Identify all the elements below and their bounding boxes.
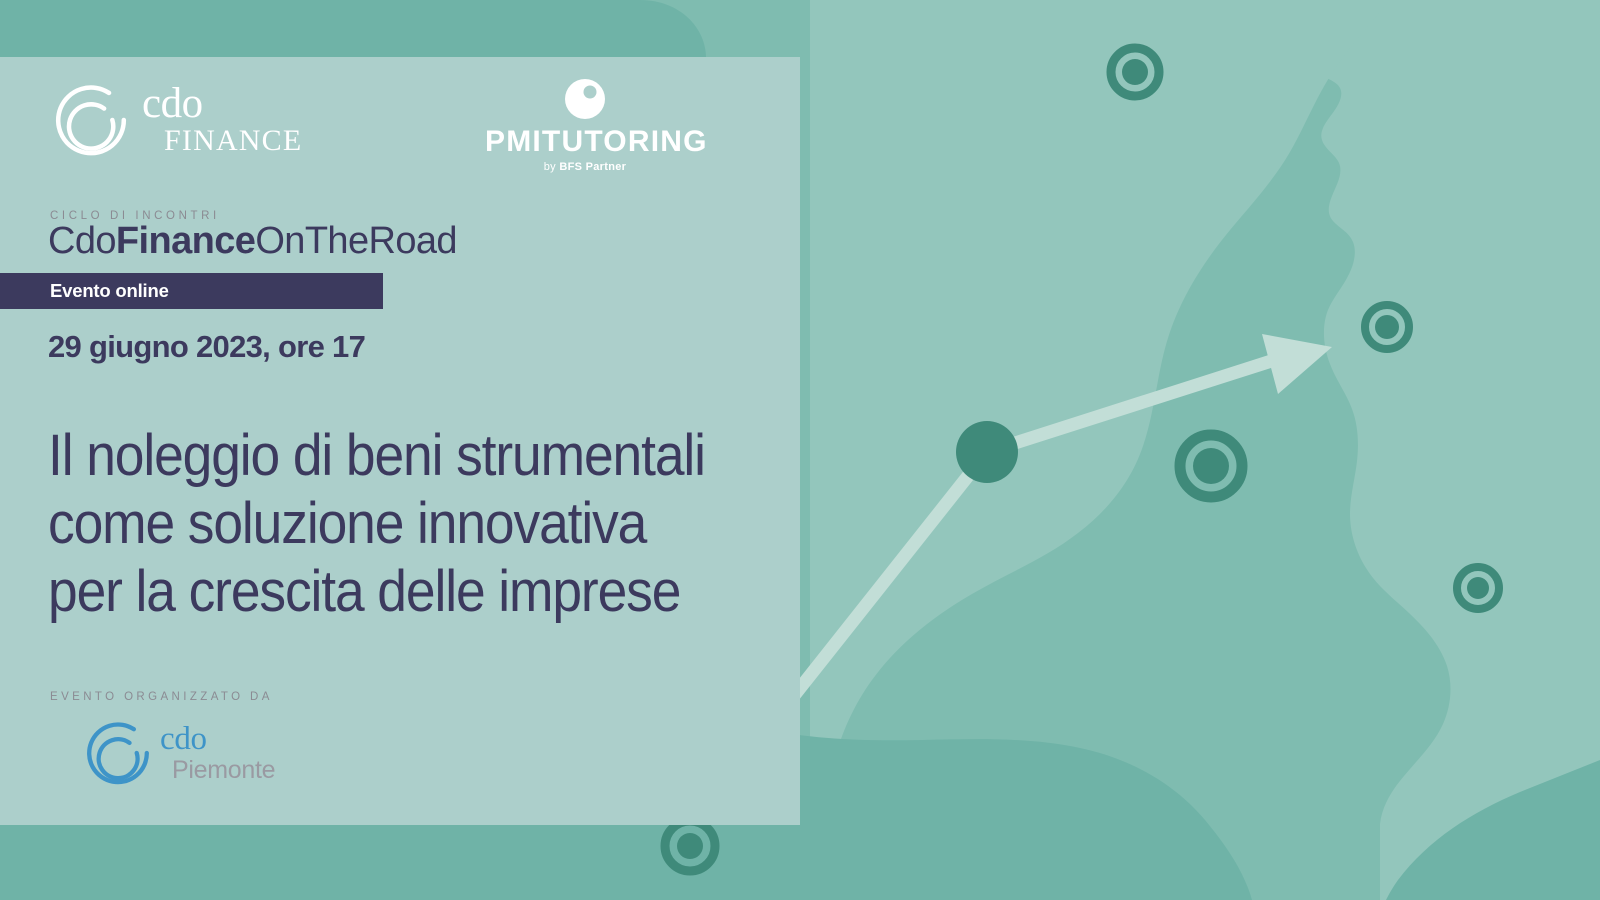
headline-line-1: Il noleggio di beni strumentali [48,422,710,490]
cdo-finance-wordmark: cdo FINANCE [142,84,302,156]
cdo-piemonte-word-bottom: Piemonte [172,758,275,783]
pmitutoring-wordmark: PMITUTORING [485,127,685,157]
cdo-finance-word-bottom: FINANCE [164,126,302,156]
series-title-part3: OnTheRoad [255,220,457,262]
event-headline: Il noleggio di beni strumentali come sol… [48,422,710,626]
map-marker-dot-bottom [677,833,703,859]
pmitutoring-subline-prefix: by [544,161,560,173]
poster-canvas: cdo FINANCE PMITUTORING by BFS Partner C… [0,0,1600,900]
headline-line-3: per la crescita delle imprese [48,558,710,626]
map-marker-dot-origin [956,421,1018,483]
pmitutoring-subline: by BFS Partner [485,161,685,173]
series-title-part2: Finance [116,220,255,262]
pmitutoring-subline-brand: BFS Partner [559,161,626,173]
cdo-piemonte-wordmark: cdo Piemonte [160,723,275,782]
info-panel: cdo FINANCE PMITUTORING by BFS Partner C… [0,57,800,825]
cdo-piemonte-word-top: cdo [160,723,275,755]
series-title-part1: Cdo [48,220,116,262]
map-marker-dot-center [1193,448,1229,484]
logo-row: cdo FINANCE PMITUTORING by BFS Partner [0,57,800,187]
event-date: 29 giugno 2023, ore 17 [48,329,365,365]
status-badge: Evento online [0,273,383,309]
cdo-piemonte-logo: cdo Piemonte [82,717,275,789]
cdo-finance-word-top: cdo [142,84,302,125]
map-marker-dot-east [1375,315,1399,339]
series-title: CdoFinanceOnTheRoad [48,222,457,262]
pmitutoring-cell-icon [563,77,607,121]
map-marker-dot-north [1122,59,1148,85]
pmitutoring-logo: PMITUTORING by BFS Partner [485,77,685,173]
eyebrow-organizer-label: EVENTO ORGANIZZATO DA [50,691,273,703]
cdo-spiral-icon [82,717,154,789]
cdo-finance-logo: cdo FINANCE [50,79,302,161]
cdo-spiral-icon [50,79,132,161]
map-marker-dot-south [1467,577,1489,599]
status-badge-label: Evento online [50,280,169,302]
headline-line-2: come soluzione innovativa [48,490,710,558]
